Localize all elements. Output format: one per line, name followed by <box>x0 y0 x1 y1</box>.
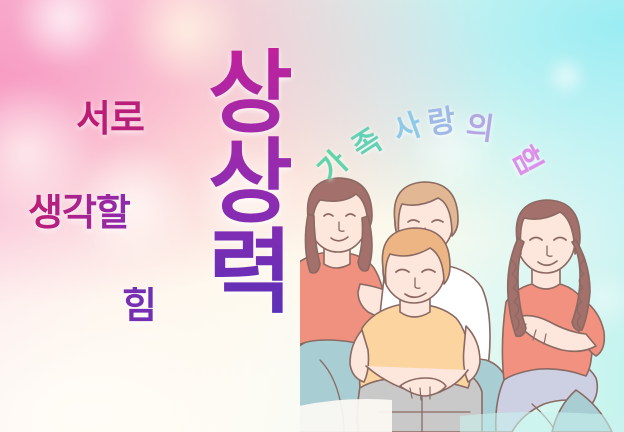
subtitle-line-3: 힘 <box>122 287 156 325</box>
page-title-char: 력 <box>196 228 304 318</box>
page-title-vertical: 상상력 <box>196 48 304 318</box>
tagline-char: 족 <box>348 125 387 165</box>
subtitle-line-2: 생각할 <box>28 194 130 232</box>
tagline-arched-text: 가족사랑의힘 <box>316 108 584 200</box>
tagline-char: 힘 <box>506 142 545 180</box>
poster-canvas: 가족사랑의힘 상상력 서로 생각할 힘 Four family members … <box>0 0 624 432</box>
subtitle-line-1: 서로 <box>76 100 144 138</box>
tagline-char: 의 <box>464 112 496 146</box>
family-group-illustration <box>300 160 624 432</box>
tagline-char: 랑 <box>426 106 458 140</box>
tagline-char: 가 <box>313 147 354 188</box>
page-title-char: 상 <box>196 48 304 138</box>
page-title-char: 상 <box>196 138 304 228</box>
tagline-char: 사 <box>390 110 426 148</box>
